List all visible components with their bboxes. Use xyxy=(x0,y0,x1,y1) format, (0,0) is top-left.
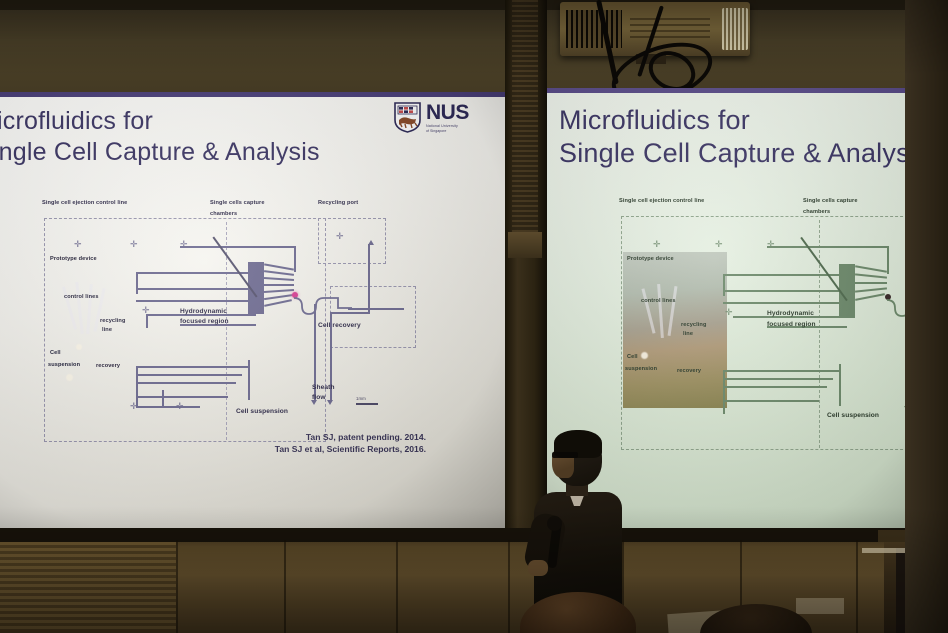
label-prototype-device: Prototype device xyxy=(627,256,674,262)
photo-detail xyxy=(641,288,655,333)
label-sheath-2: flow xyxy=(312,394,326,401)
panel-seam xyxy=(856,540,858,633)
label-sheath-1: Sheath xyxy=(312,384,335,391)
upper-wall xyxy=(0,0,948,92)
recycling-port-box xyxy=(318,218,386,264)
channel xyxy=(723,274,725,296)
right-wall xyxy=(905,0,948,633)
channel xyxy=(723,400,819,402)
divider-texture xyxy=(512,0,538,232)
label-recycling-line-2: line xyxy=(102,327,112,333)
channel xyxy=(368,244,370,314)
label-recycling-line-2: line xyxy=(683,331,693,337)
port-cross-icon: ✛ xyxy=(142,306,150,315)
label-cell-recovery: Cell recovery xyxy=(318,322,361,329)
channel xyxy=(294,246,296,272)
label-capture-chambers-2: chambers xyxy=(210,211,237,217)
scale-bar-label: 1mm xyxy=(356,396,378,401)
label-hydrodynamic-1: Hydrodynamic xyxy=(180,308,227,315)
label-capture-chambers-2: chambers xyxy=(803,209,830,215)
label-recycling-line-1: recycling xyxy=(100,318,125,324)
channel xyxy=(136,374,242,376)
label-hydrodynamic-2: focused region xyxy=(180,318,229,325)
channel xyxy=(330,312,370,314)
label-capture-chambers-1: Single cells capture xyxy=(803,198,858,204)
port-cross-icon: ✛ xyxy=(715,240,723,249)
label-cell-suspension: Cell suspension xyxy=(236,408,288,415)
nus-name: NUS xyxy=(426,102,469,123)
panel-seam xyxy=(176,540,178,633)
photo-detail xyxy=(657,284,664,338)
scale-bar-line xyxy=(356,403,378,405)
port-cross-icon: ✛ xyxy=(336,232,344,241)
slide-title-line1: Microfluidics for xyxy=(0,106,320,137)
port-cross-icon: ✛ xyxy=(180,240,188,249)
channel xyxy=(248,360,250,400)
slide-title: Microfluidics for Single Cell Capture & … xyxy=(0,106,320,167)
label-ejection-line: Single cell ejection control line xyxy=(42,200,127,206)
slide-title-line1: Microfluidics for xyxy=(559,104,930,137)
panel-seam xyxy=(508,540,510,633)
channel xyxy=(839,364,841,406)
slide-title-line2: Single Cell Capture & Analysis xyxy=(0,137,320,168)
slide-accent-band xyxy=(545,88,948,93)
slide-accent-band xyxy=(0,92,506,97)
channel xyxy=(136,272,138,294)
channel xyxy=(136,288,256,290)
port-cross-icon: ✛ xyxy=(725,308,733,317)
presenter-hand xyxy=(528,560,548,576)
channel xyxy=(723,302,845,304)
prototype-device-photo xyxy=(46,252,144,402)
label-recovery-inset: recovery xyxy=(677,368,701,374)
label-cell-suspension: Cell suspension xyxy=(827,412,879,419)
slide-title-line2: Single Cell Capture & Analysis xyxy=(559,137,930,170)
label-hydrodynamic-2: focused region xyxy=(767,321,816,328)
photo-highlight xyxy=(641,352,648,359)
channel xyxy=(723,370,839,372)
channel xyxy=(180,246,294,248)
panel-seam xyxy=(284,540,286,633)
projector-vent-left xyxy=(566,10,622,48)
microphone-head-icon xyxy=(547,516,562,531)
label-cell-2: suspension xyxy=(48,362,80,368)
channel xyxy=(146,314,148,328)
prototype-device-photo xyxy=(623,252,727,408)
channel xyxy=(723,370,725,414)
photo-highlight xyxy=(76,344,82,350)
label-cell-1: Cell xyxy=(627,354,638,360)
port-cross-icon: ✛ xyxy=(653,240,661,249)
photo-detail xyxy=(86,284,92,334)
wall-slats xyxy=(0,542,176,632)
nus-logo: NUS National University of Singapore xyxy=(394,102,469,133)
wainscot-top-rail xyxy=(0,528,948,542)
citation-line2: Tan SJ et al, Scientific Reports, 2016. xyxy=(186,444,426,456)
projection-screen-left: Microfluidics for Single Cell Capture & … xyxy=(0,92,506,539)
ceiling-shadow xyxy=(0,0,948,10)
photo-detail xyxy=(668,286,678,336)
flow-arrow-icon xyxy=(368,240,374,245)
photo-highlight xyxy=(66,374,73,381)
scale-bar: 1mm xyxy=(356,396,378,405)
flow-arrow-icon xyxy=(327,400,333,405)
channel xyxy=(348,308,404,310)
nus-subtitle-2: of Singapore xyxy=(426,130,469,134)
label-hydrodynamic-1: Hydrodynamic xyxy=(767,310,814,317)
channel xyxy=(136,366,248,368)
label-recycling-port: Recycling port xyxy=(318,200,358,206)
channel xyxy=(136,396,228,398)
label-cell-1: Cell xyxy=(50,350,61,356)
projector-vent-right xyxy=(722,8,748,50)
label-prototype-device: Prototype device xyxy=(50,256,97,262)
comb-tooth xyxy=(264,284,294,286)
photo-detail xyxy=(62,286,77,329)
channel xyxy=(136,382,236,384)
port-cross-icon: ✛ xyxy=(130,240,138,249)
channel xyxy=(136,300,254,302)
divider-cap xyxy=(508,232,542,258)
port-cross-icon: ✛ xyxy=(176,402,184,411)
channel xyxy=(723,290,847,292)
label-control-lines: control lines xyxy=(641,298,676,304)
projector-detail xyxy=(630,18,710,38)
label-recovery-inset: recovery xyxy=(96,363,120,369)
slide-title: Microfluidics for Single Cell Capture & … xyxy=(559,104,930,170)
label-cell-2: suspension xyxy=(625,366,657,372)
channel xyxy=(887,246,889,274)
channel xyxy=(723,386,827,388)
label-ejection-line: Single cell ejection control line xyxy=(619,198,704,204)
label-capture-chambers-1: Single cells capture xyxy=(210,200,265,206)
port-cross-icon: ✛ xyxy=(767,240,775,249)
center-axis xyxy=(819,220,820,448)
citation-line1: Tan SJ, patent pending. 2014. xyxy=(186,432,426,444)
podium-post xyxy=(896,548,905,633)
audience-paper xyxy=(796,598,844,614)
microfluidic-diagram: Single cell ejection control line Single… xyxy=(30,200,450,510)
port-cross-icon: ✛ xyxy=(74,240,82,249)
lecture-hall-photo: Microfluidics for Single Cell Capture & … xyxy=(0,0,948,633)
channel xyxy=(136,406,200,408)
channel xyxy=(767,246,887,248)
slide-citation: Tan SJ, patent pending. 2014. Tan SJ et … xyxy=(186,432,426,455)
nus-wordmark: NUS National University of Singapore xyxy=(426,102,469,133)
comb-tooth xyxy=(855,282,887,284)
panel-seam xyxy=(396,540,398,633)
port-cross-icon: ✛ xyxy=(130,402,138,411)
glasses-icon xyxy=(552,452,578,458)
shield-icon xyxy=(394,102,421,133)
channel xyxy=(723,378,833,380)
label-control-lines: control lines xyxy=(64,294,99,300)
label-recycling-line-1: recycling xyxy=(681,322,706,328)
